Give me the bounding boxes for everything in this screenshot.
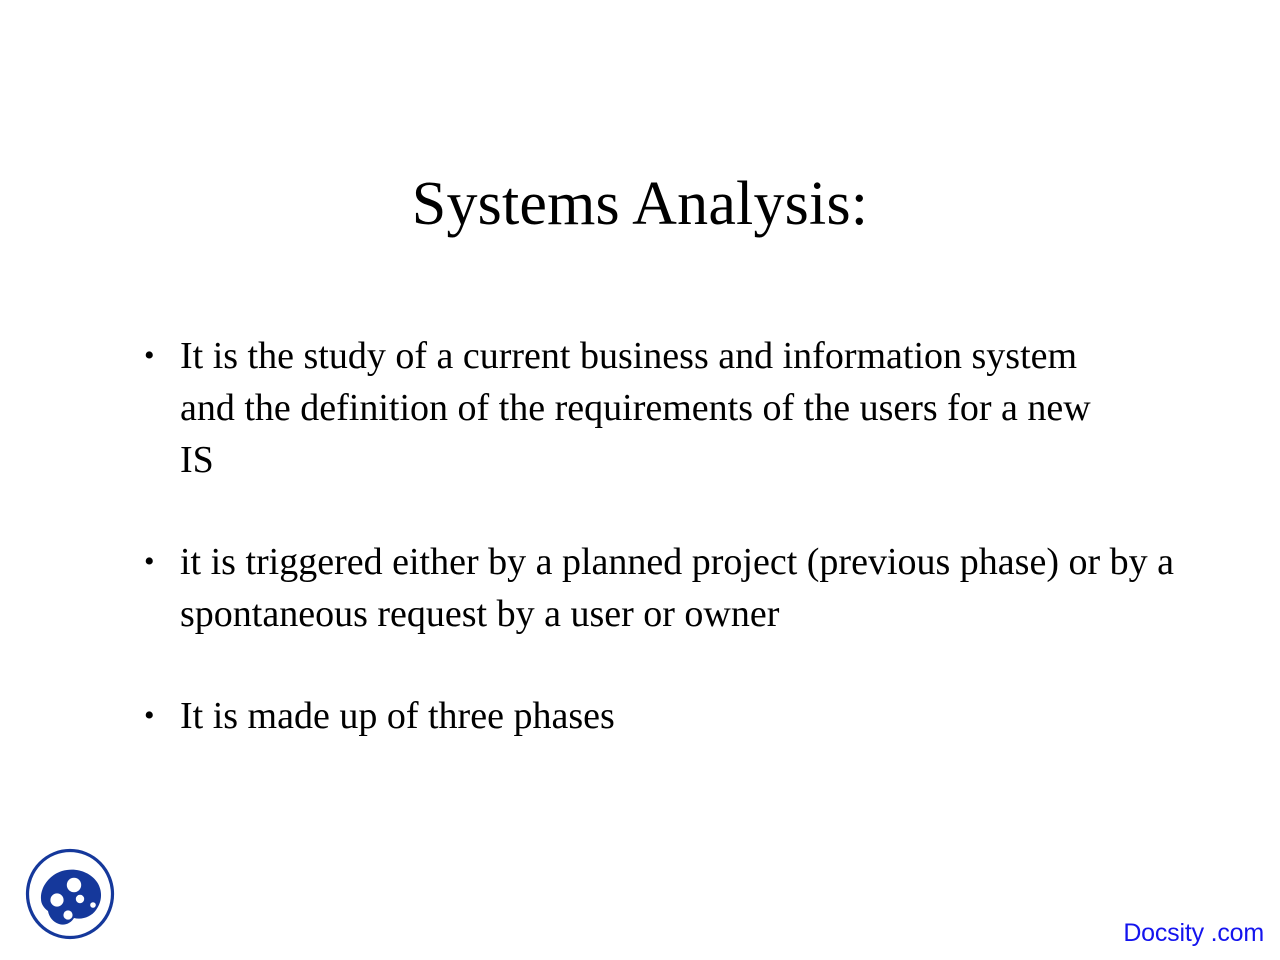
page-title: Systems Analysis: xyxy=(0,170,1280,239)
bullet-list: • It is the study of a current business … xyxy=(140,330,1150,742)
bullet-point-icon: • xyxy=(144,330,164,382)
list-item-text: It is made up of three phases xyxy=(180,690,1180,742)
docsity-logo-icon xyxy=(24,847,116,941)
list-item-text: It is the study of a current business an… xyxy=(180,330,1100,486)
bullet-point-icon: • xyxy=(144,690,164,742)
docsity-wordmark: Docsity .com xyxy=(1123,919,1264,948)
list-item-text: it is triggered either by a planned proj… xyxy=(180,536,1180,640)
slide-canvas: Systems Analysis: • It is the study of a… xyxy=(0,0,1280,960)
list-item: • it is triggered either by a planned pr… xyxy=(140,536,1180,640)
list-item: • It is made up of three phases xyxy=(140,690,1180,742)
bullet-point-icon: • xyxy=(144,536,164,588)
list-item: • It is the study of a current business … xyxy=(140,330,1100,486)
